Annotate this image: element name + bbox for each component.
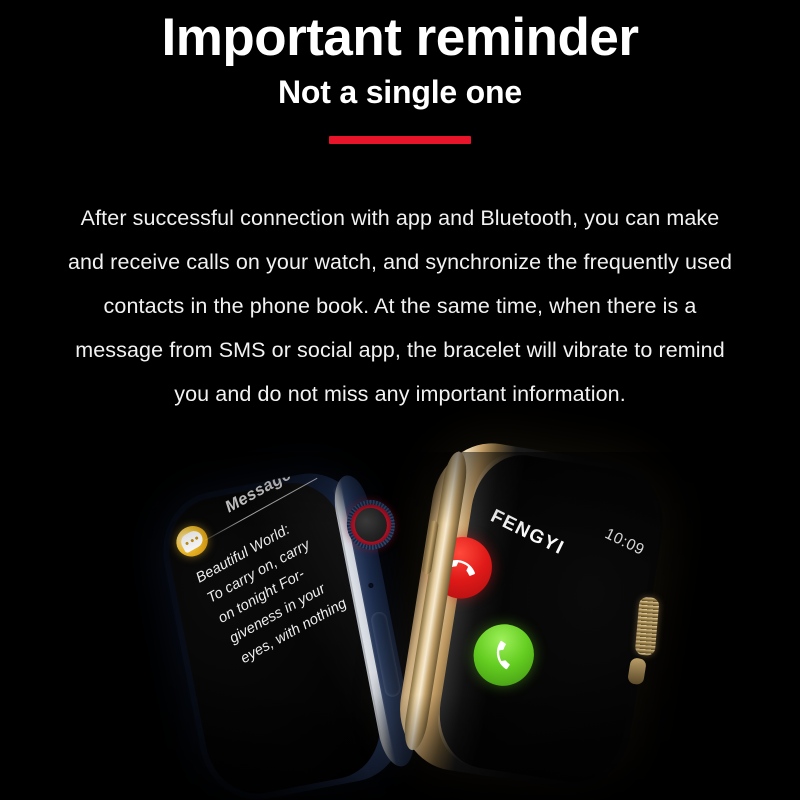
status-bar-time: 10:09 [602,525,647,560]
red-divider [329,136,471,144]
description-paragraph: After successful connection with app and… [62,196,738,416]
gold-watch-digital-crown[interactable] [635,597,660,657]
page-title: Important reminder [0,0,800,66]
crown-face [352,505,390,544]
divider-wrapper [0,110,800,144]
message-bubble-dots [178,528,205,554]
phone-answer-icon [485,636,522,673]
caller-name: FENGYI [487,506,568,560]
gold-watch-side-crown[interactable] [627,657,647,685]
page-subtitle: Not a single one [0,66,800,110]
gold-smartwatch: 10:09 FENGYI [388,435,719,800]
accept-call-button[interactable] [463,614,544,696]
promo-page: Important reminder Not a single one Afte… [0,0,800,800]
product-photo-stage: Message Beautiful World: To carry on, ca… [0,452,800,800]
header-block: Important reminder Not a single one [0,0,800,144]
